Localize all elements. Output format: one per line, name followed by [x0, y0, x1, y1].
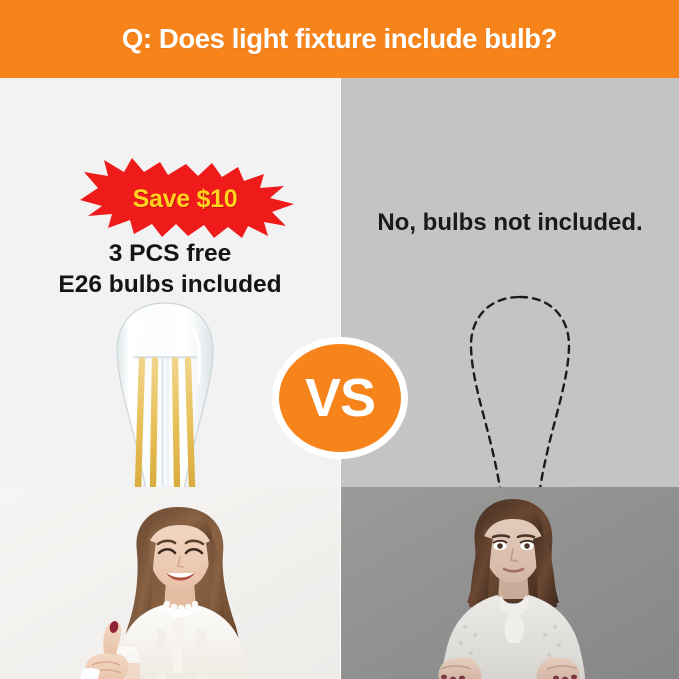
vs-badge: VS — [271, 336, 409, 460]
save-badge: Save $10 — [72, 158, 298, 240]
left-headline: 3 PCS free E26 bulbs included — [0, 238, 340, 301]
header-banner: Q: Does light fixture include bulb? — [0, 0, 679, 78]
right-headline: No, bulbs not included. — [341, 209, 679, 237]
bulb-glass — [117, 303, 213, 496]
happy-woman-thumbs-up-photo — [0, 487, 340, 679]
disappointed-woman-shrug-photo — [341, 487, 679, 679]
page-title: Q: Does light fixture include bulb? — [122, 23, 557, 55]
reaction-photos — [0, 487, 679, 679]
left-headline-line1: 3 PCS free — [0, 238, 340, 269]
comparison-infographic: Q: Does light fixture include bulb? Save… — [0, 0, 679, 679]
left-headline-line2: E26 bulbs included — [0, 269, 340, 300]
save-badge-label: Save $10 — [72, 158, 298, 240]
comparison-panels: Save $10 3 PCS free E26 bulbs included N… — [0, 78, 679, 487]
vs-label: VS — [271, 336, 409, 460]
